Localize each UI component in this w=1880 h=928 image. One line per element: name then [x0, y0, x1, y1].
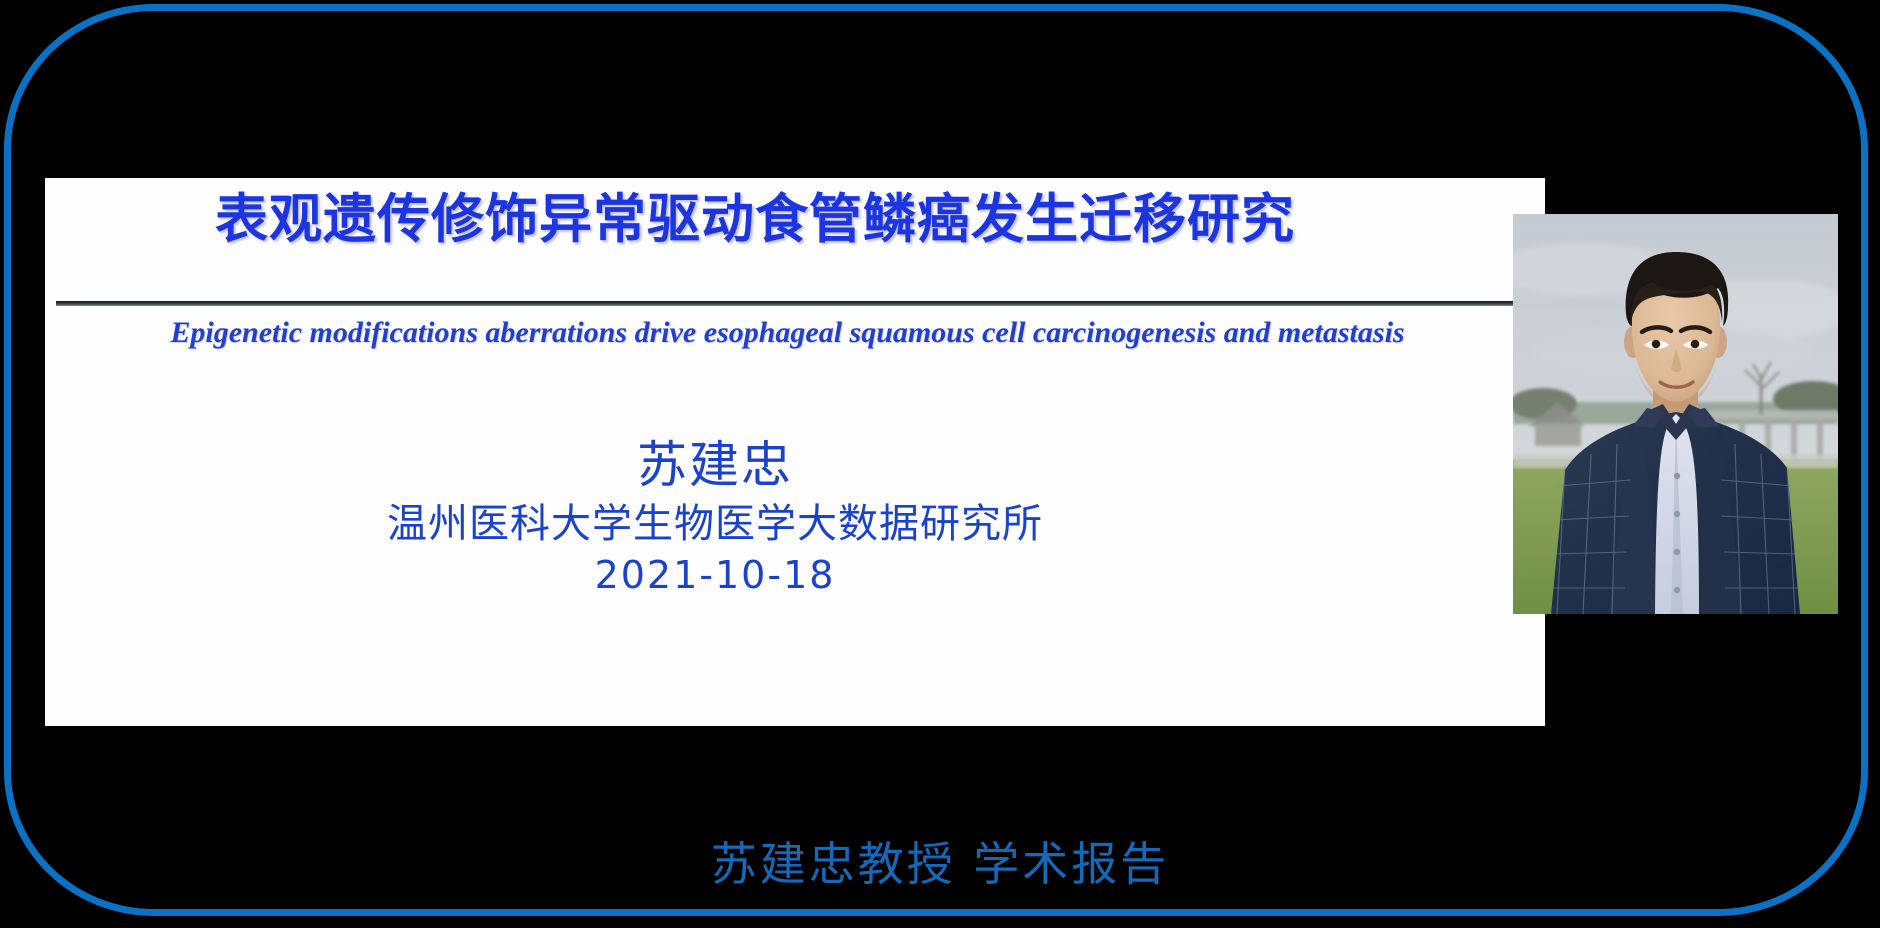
presenter-block: 苏建忠 温州医科大学生物医学大数据研究所 2021-10-18 — [45, 436, 1385, 600]
presenter-name: 苏建忠 — [45, 436, 1385, 494]
speaker-portrait-photo — [1513, 214, 1838, 614]
portrait-image — [1513, 214, 1838, 614]
bottom-caption: 苏建忠教授 学术报告 — [0, 828, 1880, 894]
presenter-affiliation: 温州医科大学生物医学大数据研究所 — [45, 498, 1385, 550]
slide-title: 表观遗传修饰异常驱动食管鳞癌发生迁移研究 — [45, 190, 1465, 251]
presenter-date: 2021-10-18 — [45, 552, 1385, 600]
slide-content: 表观遗传修饰异常驱动食管鳞癌发生迁移研究 Epigenetic modifica… — [45, 178, 1545, 726]
presentation-slide: 表观遗传修饰异常驱动食管鳞癌发生迁移研究 Epigenetic modifica… — [45, 178, 1545, 726]
video-stage: 表观遗传修饰异常驱动食管鳞癌发生迁移研究 Epigenetic modifica… — [0, 0, 1880, 928]
slide-subtitle-english: Epigenetic modifications aberrations dri… — [55, 271, 1520, 352]
